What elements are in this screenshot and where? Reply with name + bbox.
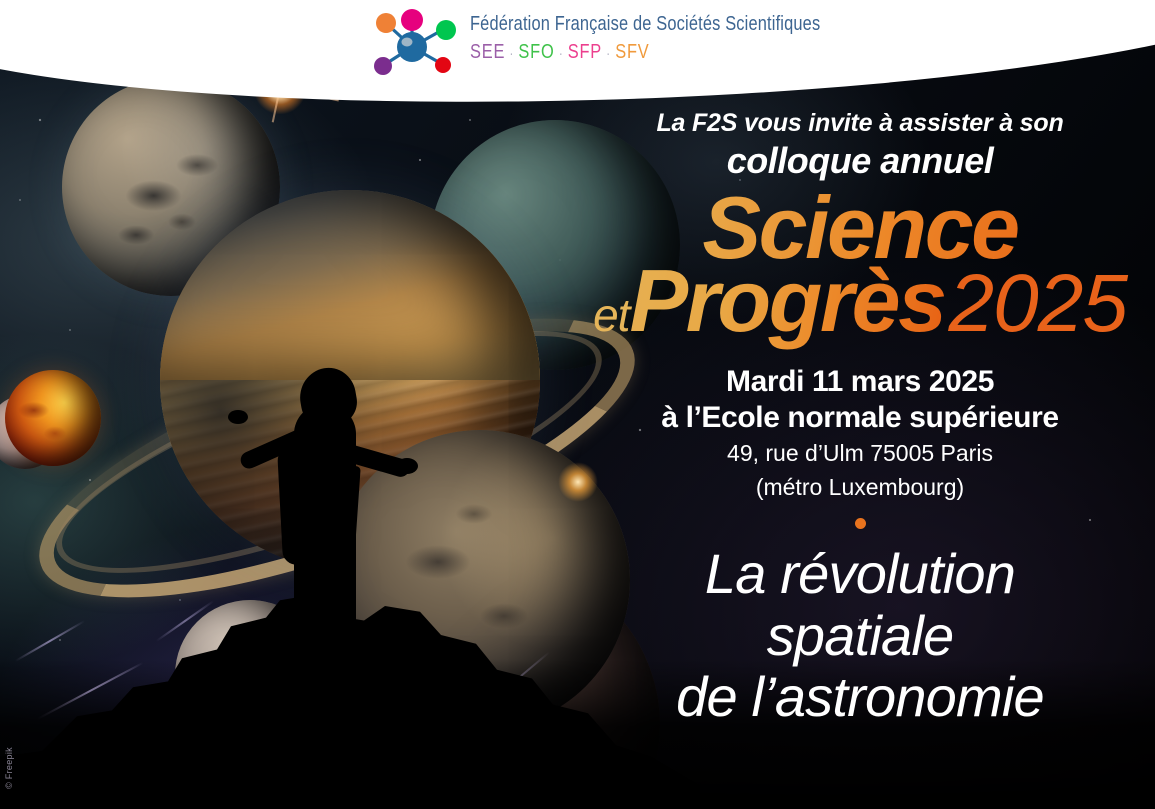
logo-society-see: SEE bbox=[470, 41, 505, 63]
logo-wordmark: Fédération Française de Sociétés Scienti… bbox=[470, 13, 897, 64]
freepik-credit: © Freepik bbox=[4, 747, 14, 789]
invitation-line-2: colloque annuel bbox=[575, 140, 1145, 181]
theme-line-1: La révolution bbox=[575, 543, 1145, 605]
logo-society-sfv: SFV bbox=[615, 41, 649, 63]
red-volcanic-planet bbox=[5, 370, 101, 466]
title-word-et: et bbox=[593, 289, 629, 341]
conference-theme: La révolution spatiale de l’astronomie bbox=[575, 543, 1145, 728]
logo-title: Fédération Française de Sociétés Scienti… bbox=[470, 13, 820, 36]
theme-line-2: spatiale bbox=[575, 605, 1145, 667]
event-metro: (métro Luxembourg) bbox=[575, 473, 1145, 502]
event-address: 49, rue d’Ulm 75005 Paris bbox=[575, 439, 1145, 468]
event-title: Science etProgrès2025 bbox=[575, 189, 1145, 341]
poster-text-column: La F2S vous invite à assister à son coll… bbox=[575, 110, 1145, 728]
invitation-line-1: La F2S vous invite à assister à son bbox=[575, 110, 1145, 138]
logo-separator-3: · bbox=[602, 45, 615, 62]
logo-society-sfo: SFO bbox=[518, 41, 554, 63]
event-venue: à l’Ecole normale supérieure bbox=[575, 400, 1145, 435]
hiker-silhouette-pointing bbox=[262, 358, 412, 658]
figure-right-hand bbox=[396, 458, 418, 474]
logo-society-list: SEE·SFO·SFP·SFV bbox=[470, 41, 820, 64]
title-year: 2025 bbox=[945, 258, 1127, 349]
orange-divider-dot bbox=[855, 518, 866, 529]
logo-society-sfp: SFP bbox=[568, 41, 602, 63]
federation-logo: Fédération Française de Sociétés Scienti… bbox=[366, 5, 812, 77]
network-node-icon bbox=[366, 9, 462, 75]
planet-ring-occlusion bbox=[160, 190, 540, 380]
event-details: Mardi 11 mars 2025 à l’Ecole normale sup… bbox=[575, 364, 1145, 502]
theme-line-3: de l’astronomie bbox=[575, 666, 1145, 728]
poster-canvas: Fédération Française de Sociétés Scienti… bbox=[0, 0, 1155, 809]
title-second-line: etProgrès2025 bbox=[575, 262, 1145, 340]
logo-separator-1: · bbox=[505, 45, 518, 62]
figure-pointing-hand bbox=[228, 410, 248, 424]
logo-separator-2: · bbox=[555, 45, 568, 62]
event-date: Mardi 11 mars 2025 bbox=[575, 364, 1145, 399]
title-word-progres: Progrès bbox=[629, 251, 944, 350]
